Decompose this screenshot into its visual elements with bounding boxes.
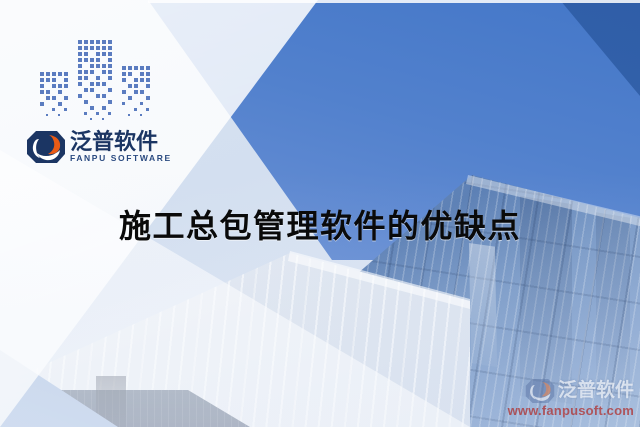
- glass-panel-highlight: [469, 243, 497, 367]
- fanpu-hexagon-logo-icon: [26, 130, 66, 164]
- brand-logo: 泛普软件 FANPU SOFTWARE: [26, 38, 162, 168]
- promo-banner: 泛普软件 FANPU SOFTWARE 施工总包管理软件的优缺点 泛普软件 ww…: [0, 0, 640, 427]
- site-watermark: 泛普软件 www.fanpusoft.com: [486, 378, 634, 419]
- watermark-url: www.fanpusoft.com: [486, 403, 634, 419]
- logo-lockup: 泛普软件 FANPU SOFTWARE: [26, 130, 172, 164]
- logo-name-en: FANPU SOFTWARE: [70, 153, 172, 164]
- fanpu-hexagon-logo-icon: [525, 378, 555, 404]
- logo-name-cn: 泛普软件: [70, 130, 172, 153]
- pixelated-buildings-icon: [38, 38, 154, 128]
- watermark-name-cn: 泛普软件: [558, 380, 634, 402]
- banner-title: 施工总包管理软件的优缺点: [0, 205, 640, 247]
- logo-wordmark: 泛普软件 FANPU SOFTWARE: [70, 130, 172, 164]
- watermark-logo-row: 泛普软件: [486, 378, 634, 404]
